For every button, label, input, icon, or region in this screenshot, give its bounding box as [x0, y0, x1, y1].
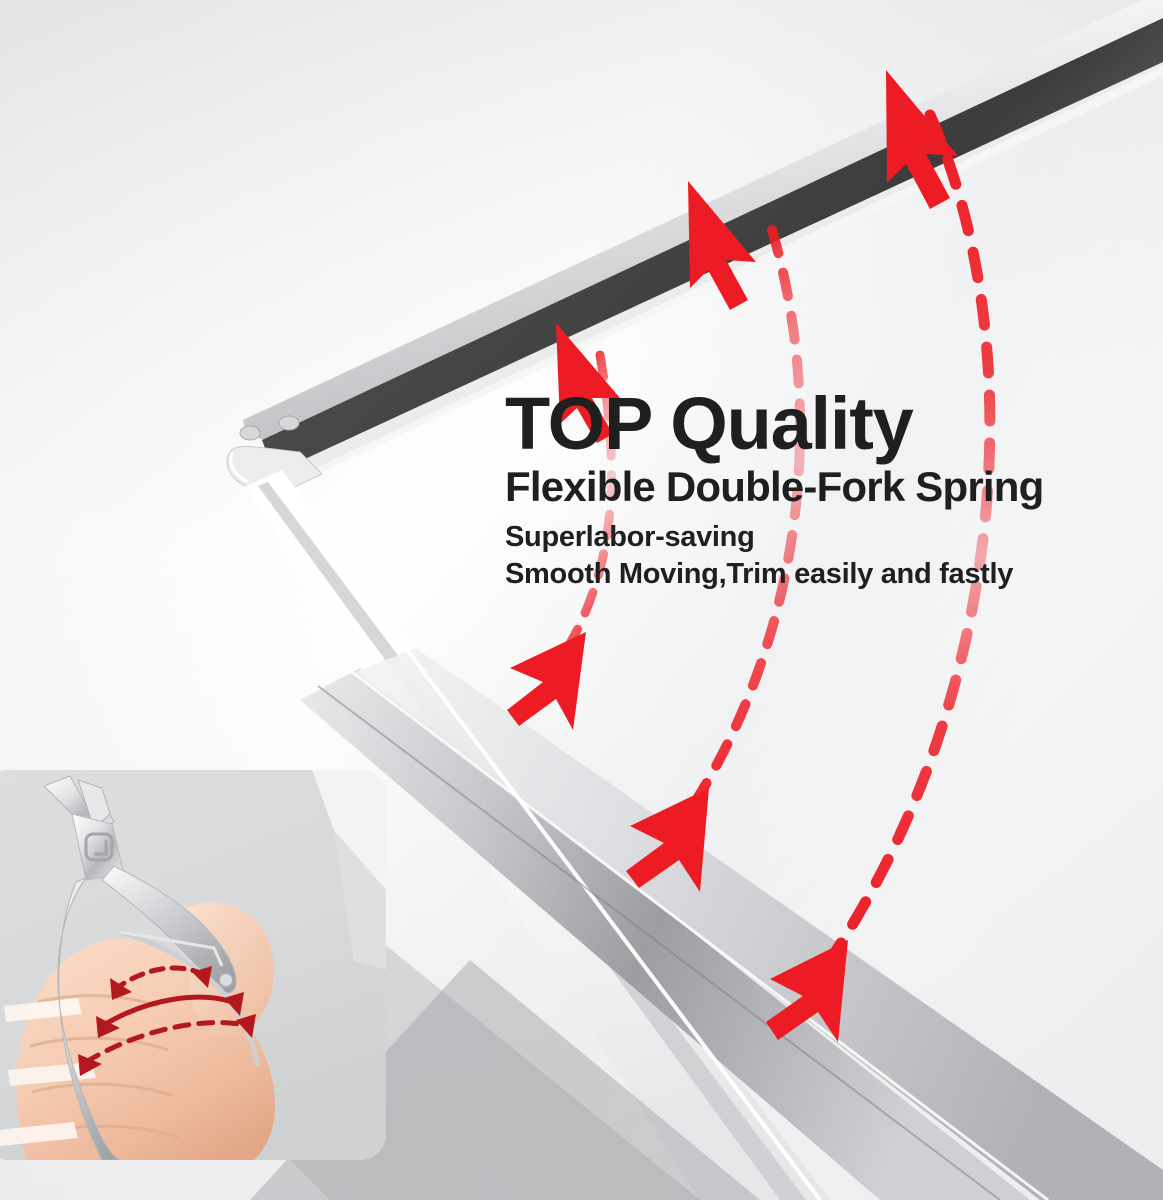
feature-bullet-2: Smooth Moving,Trim easily and fastly	[505, 556, 1125, 593]
motion-arrowheads-down	[507, 632, 848, 1042]
arrow-down-middle-icon	[626, 788, 709, 892]
inset-spring-pivot	[219, 973, 233, 987]
marketing-copy-block: TOP Quality Flexible Double-Fork Spring …	[505, 388, 1125, 593]
subheadline: Flexible Double-Fork Spring	[505, 465, 1125, 510]
product-banner: TOP Quality Flexible Double-Fork Spring …	[0, 0, 1163, 1200]
feature-bullet-1: Superlabor-saving	[505, 519, 1125, 556]
arrow-up-middle-icon	[688, 181, 756, 310]
arrow-down-outer-icon	[766, 940, 848, 1042]
arrow-down-inner-icon	[507, 632, 586, 730]
headline: TOP Quality	[505, 388, 1125, 461]
arrow-up-outer-icon	[886, 70, 958, 209]
inset-hand-holding-nipper	[0, 770, 386, 1160]
inset-photo-card	[0, 770, 386, 1160]
